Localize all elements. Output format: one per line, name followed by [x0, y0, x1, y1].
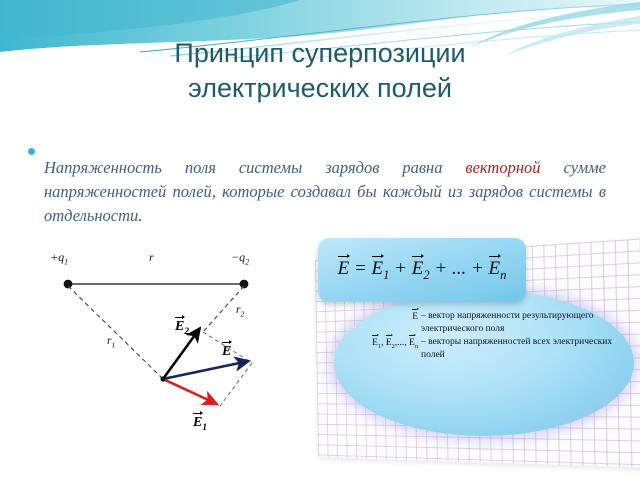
legend-symbol-E: E	[326, 310, 421, 324]
label-distance-r: r	[149, 250, 154, 265]
label-charge-positive: +q1	[50, 250, 68, 266]
charge-positive-dot	[64, 280, 73, 289]
label-radius-r1: r1	[107, 335, 115, 349]
label-vector-E2: E2	[175, 318, 189, 336]
legend-row-resultant: E – вектор напряженности результирующего…	[326, 310, 616, 335]
paragraph-text-before: Напряженность поля системы зарядов равна	[44, 158, 465, 177]
title-line-2: электрических полей	[0, 71, 640, 106]
field-point-dot	[160, 376, 165, 381]
formula-box: E = E1 + E2 + ... + En	[318, 238, 526, 302]
page-title: Принцип суперпозиции электрических полей	[0, 36, 640, 106]
legend-row-components: E1, E2,..., En – векторы напряженностей …	[326, 336, 616, 361]
formula-panel: E – вектор напряженности результирующего…	[296, 238, 640, 470]
body-content: Напряженность поля системы зарядов равна…	[28, 139, 606, 244]
label-radius-r2: r2	[236, 304, 244, 318]
vector-E1-arrow	[163, 379, 217, 404]
diagram-graphic-icon	[44, 248, 294, 458]
vector-superposition-diagram: +q1 r −q2 r1 r2 E2 E E1	[44, 248, 294, 458]
label-vector-E: E	[222, 343, 231, 360]
paragraph-accent-word: векторной	[465, 158, 540, 177]
radius-r1-line	[68, 286, 163, 379]
legend-text-components: – векторы напряженностей всех электричес…	[421, 336, 616, 361]
bullet-dot-icon	[28, 148, 35, 155]
legend-block: E – вектор напряженности результирующего…	[326, 310, 616, 362]
title-line-1: Принцип суперпозиции	[0, 36, 640, 71]
superposition-formula: E = E1 + E2 + ... + En	[338, 257, 507, 283]
bullet-list-item: Напряженность поля системы зарядов равна…	[28, 139, 606, 244]
label-charge-negative: −q2	[231, 250, 249, 266]
label-vector-E1: E1	[193, 414, 207, 432]
body-paragraph: Напряженность поля системы зарядов равна…	[44, 156, 606, 228]
charge-negative-dot	[240, 280, 249, 289]
legend-text-resultant: – вектор напряженности результирующего э…	[421, 310, 616, 335]
vector-E-arrow	[163, 361, 249, 379]
parallelogram-side-lower	[220, 363, 252, 406]
legend-symbol-E-components: E1, E2,..., En	[326, 336, 421, 353]
slide-root: Принцип суперпозиции электрических полей…	[0, 0, 640, 479]
